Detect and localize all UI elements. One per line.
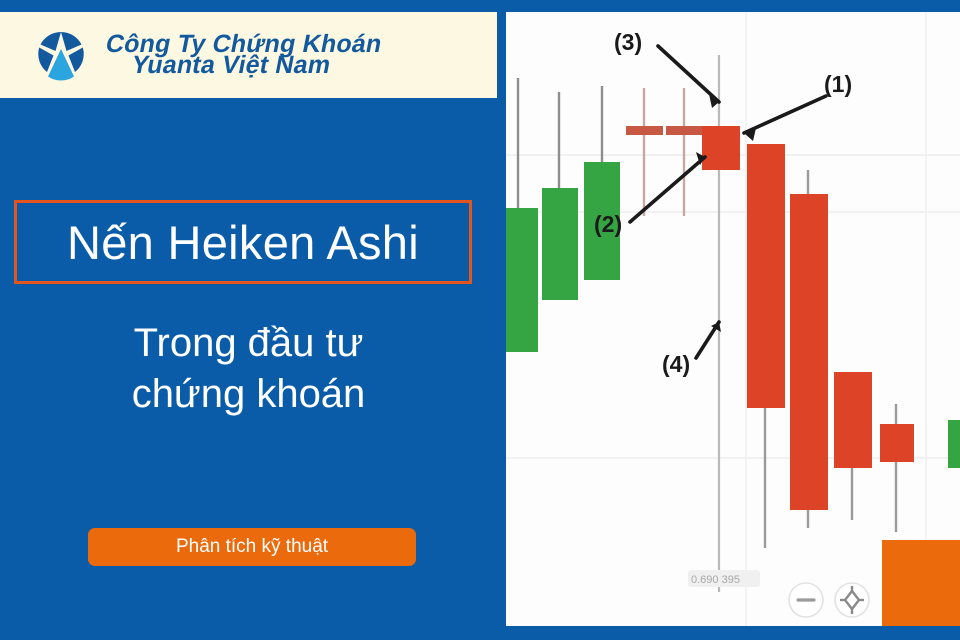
technical-analysis-button[interactable]: Phân tích kỹ thuật <box>88 528 416 566</box>
infographic-canvas: Công Ty Chứng Khoán Yuanta Việt Nam Nến … <box>0 0 960 640</box>
page-title: Nến Heiken Ashi <box>67 215 419 270</box>
subheadline-line1: Trong đầu tư <box>0 318 497 369</box>
chart-top-strip <box>506 0 960 12</box>
reset-view-button[interactable] <box>835 583 869 617</box>
brand-banner: Công Ty Chứng Khoán Yuanta Việt Nam <box>0 12 497 98</box>
yuanta-star-circle-icon <box>34 28 88 82</box>
headline-box: Nến Heiken Ashi <box>14 200 472 284</box>
subheadline-line2: chứng khoán <box>0 369 497 420</box>
chart-bottom-strip <box>506 626 960 640</box>
candlestick-chart-panel: (3) (1) (2) (4) 0.690 395 <box>506 0 960 640</box>
orange-accent-block <box>882 540 960 626</box>
zoom-out-button[interactable] <box>789 583 823 617</box>
brand-name: Công Ty Chứng Khoán Yuanta Việt Nam <box>100 32 385 78</box>
subheadline: Trong đầu tư chứng khoán <box>0 318 497 420</box>
